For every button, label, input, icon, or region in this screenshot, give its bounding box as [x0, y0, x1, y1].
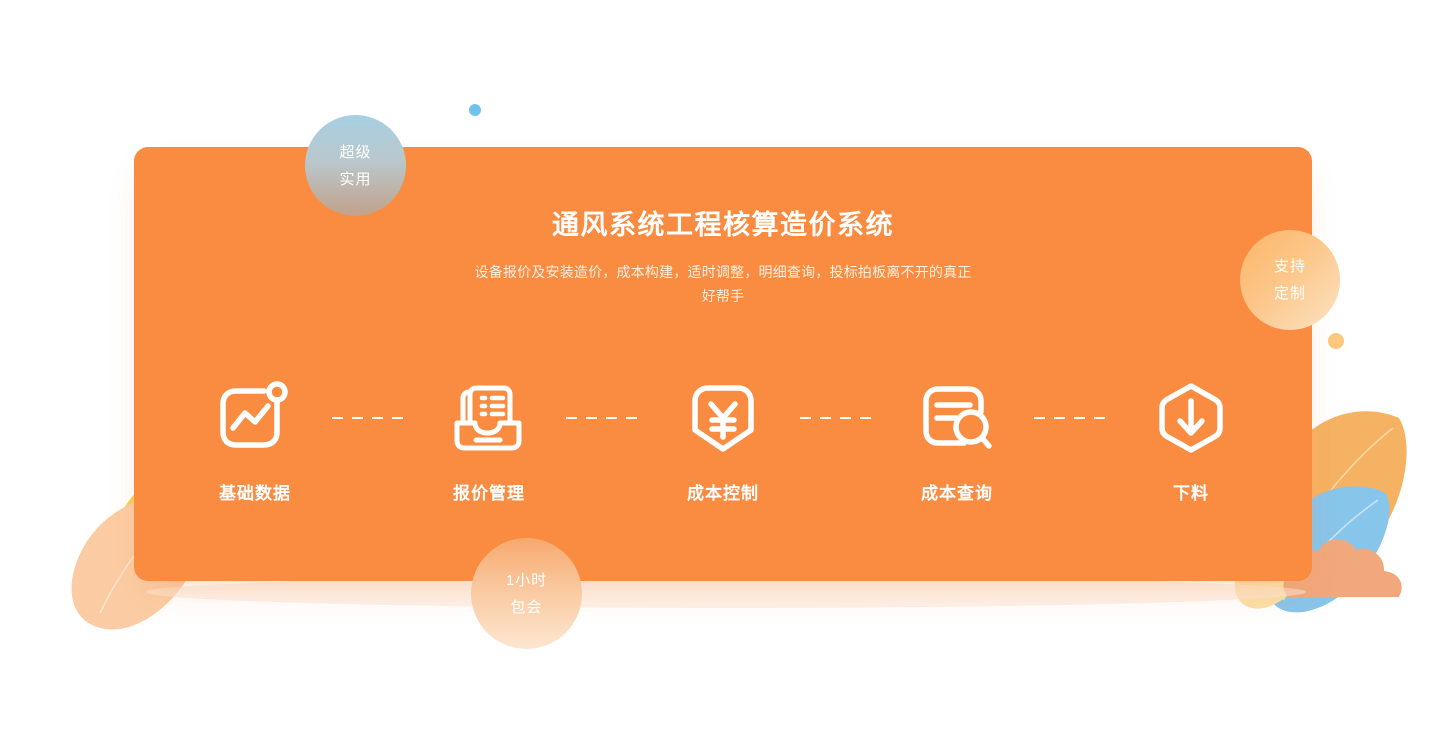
badge-super-practical: 超级 实用	[305, 115, 406, 216]
feature-label: 基础数据	[219, 479, 291, 504]
badge-line-1: 超级	[339, 139, 371, 166]
page-root: 通风系统工程核算造价系统 设备报价及安装造价，成本构建，适时调整，明细查询，投标…	[0, 0, 1440, 730]
feature-label: 报价管理	[453, 479, 525, 504]
badge-one-hour-training: 1小时 包会	[471, 538, 582, 649]
page-subtitle: 设备报价及安装造价，成本构建，适时调整，明细查询，投标拍板离不开的真正好帮手	[468, 260, 978, 308]
badge-line-2: 定制	[1274, 280, 1306, 307]
feature-item-quote-management[interactable]: 报价管理	[423, 375, 555, 504]
feature-item-material-cutting[interactable]: 下料	[1125, 375, 1257, 504]
page-title: 通风系统工程核算造价系统	[134, 209, 1312, 241]
document-inbox-icon	[446, 375, 532, 461]
feature-item-cost-control[interactable]: 成本控制	[657, 375, 789, 504]
feature-list: 基础数据	[189, 375, 1257, 504]
hexagon-download-arrow-icon	[1148, 375, 1234, 461]
blue-dot-small-icon	[469, 104, 481, 116]
badge-custom-support: 支持 定制	[1240, 230, 1340, 330]
feature-connector-2	[566, 417, 646, 419]
feature-label: 下料	[1173, 479, 1209, 504]
chart-trend-square-icon	[212, 375, 298, 461]
document-search-icon	[914, 375, 1000, 461]
yuan-shield-icon	[680, 375, 766, 461]
feature-connector-4	[1034, 417, 1114, 419]
orange-dot-small-icon	[1328, 333, 1344, 349]
feature-label: 成本查询	[921, 479, 993, 504]
badge-line-1: 支持	[1274, 253, 1306, 280]
badge-line-2: 包会	[510, 594, 542, 621]
feature-item-cost-query[interactable]: 成本查询	[891, 375, 1023, 504]
feature-connector-3	[800, 417, 880, 419]
hero-panel: 通风系统工程核算造价系统 设备报价及安装造价，成本构建，适时调整，明细查询，投标…	[134, 147, 1312, 581]
hero-header: 通风系统工程核算造价系统 设备报价及安装造价，成本构建，适时调整，明细查询，投标…	[134, 209, 1312, 308]
feature-connector-1	[332, 417, 412, 419]
feature-label: 成本控制	[687, 479, 759, 504]
feature-item-basic-data[interactable]: 基础数据	[189, 375, 321, 504]
badge-line-2: 实用	[339, 166, 371, 193]
badge-line-1: 1小时	[506, 567, 547, 594]
